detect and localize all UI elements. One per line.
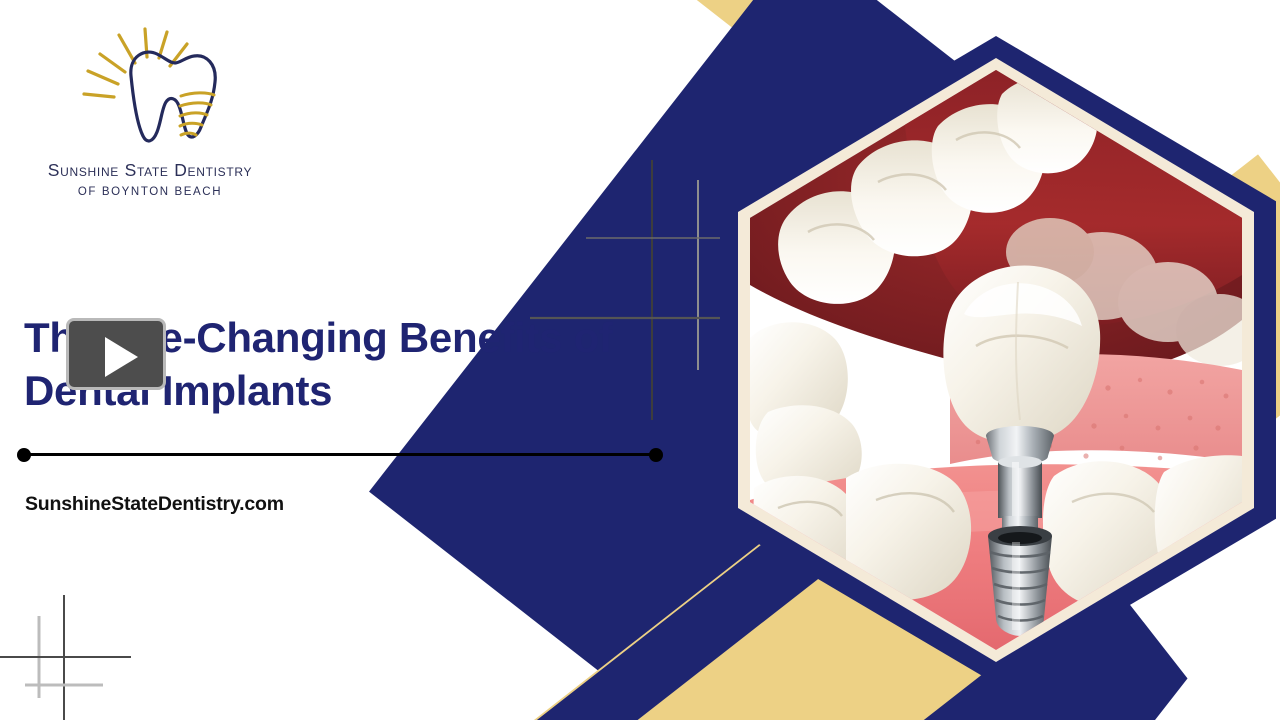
play-button[interactable] xyxy=(66,318,166,390)
presentation-slide: Sunshine State Dentistry OF BOYNTON BEAC… xyxy=(0,0,1280,720)
divider-dot-right xyxy=(649,448,663,462)
logo-location-subtitle: OF BOYNTON BEACH xyxy=(20,186,280,198)
dental-implant-photo xyxy=(750,70,1242,650)
tooth-outline-icon xyxy=(131,52,215,141)
dental-implant-illustration xyxy=(750,70,1242,650)
play-triangle-icon xyxy=(105,337,138,377)
divider-line-with-dots xyxy=(17,448,663,462)
logo-company-name: Sunshine State Dentistry xyxy=(20,160,280,181)
logo: Sunshine State Dentistry OF BOYNTON BEAC… xyxy=(20,22,280,198)
hexagon-inner-cream-border xyxy=(738,58,1254,662)
website-url: SunshineStateDentistry.com xyxy=(25,493,284,516)
tooth-sun-logo-icon xyxy=(75,22,225,150)
hexagon-photo-frame xyxy=(716,36,1276,684)
crosshair-grid-decoration-left xyxy=(0,595,170,720)
divider-rule xyxy=(24,453,656,456)
